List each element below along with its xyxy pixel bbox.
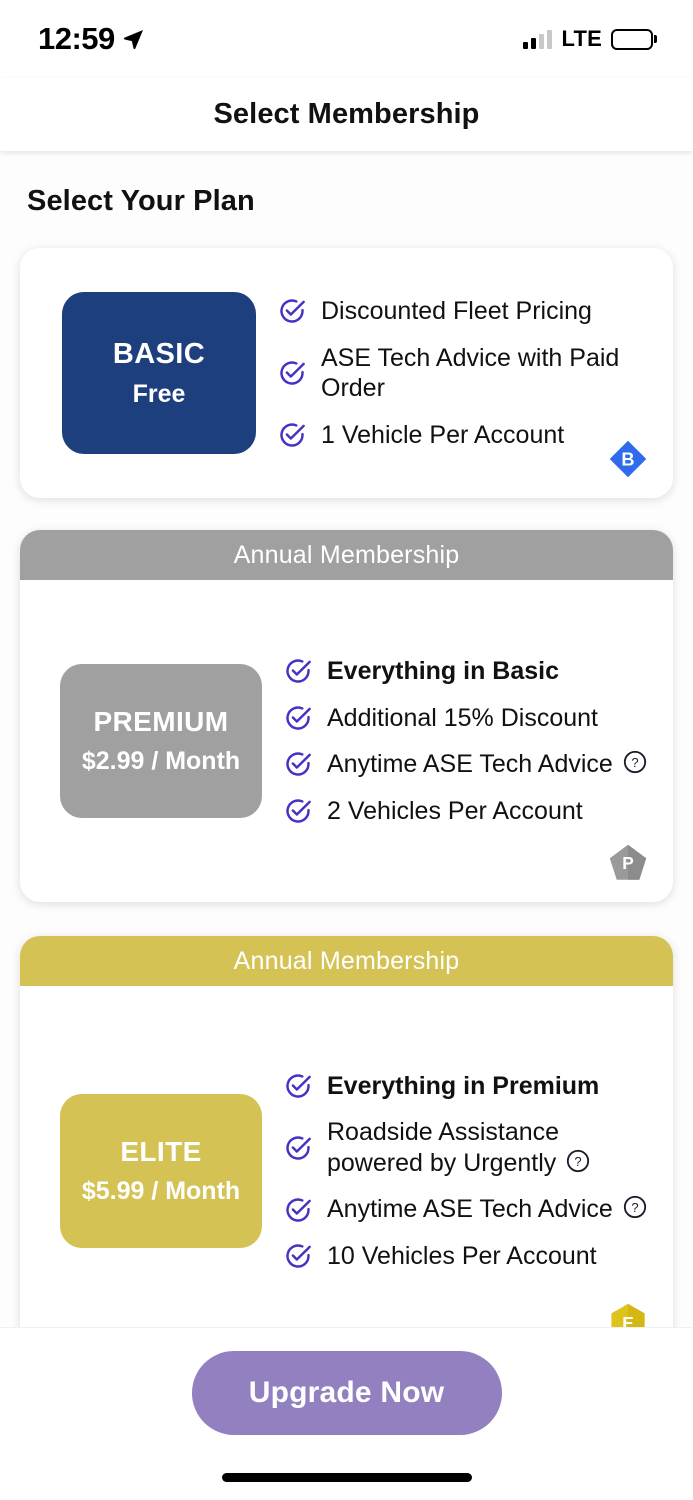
- status-bar-right: LTE: [523, 26, 653, 52]
- question-mark-circle-icon[interactable]: ?: [565, 1148, 591, 1174]
- battery-icon: [611, 29, 653, 50]
- plan-card-basic[interactable]: BASIC Free Discounted Fleet Pricing: [20, 248, 673, 498]
- pentagon-p-emblem-icon: P: [605, 840, 651, 886]
- check-circle-icon: [278, 359, 306, 387]
- feature-item: ASE Tech Advice with Paid Order: [278, 335, 651, 412]
- feature-text: Everything in Basic: [327, 656, 559, 687]
- status-bar: 12:59 LTE: [0, 0, 693, 78]
- feature-item: Anytime ASE Tech Advice ?: [284, 1186, 651, 1233]
- feature-item: Roadside Assistance powered by Urgently …: [284, 1109, 651, 1186]
- plan-card-elite[interactable]: Annual Membership ELITE $5.99 / Month Ev…: [20, 936, 673, 1327]
- feature-item: Everything in Basic: [284, 648, 651, 695]
- plan-price-premium: $2.99 / Month: [82, 747, 240, 776]
- plan-badge-premium: PREMIUM $2.99 / Month: [60, 664, 262, 818]
- upgrade-now-button[interactable]: Upgrade Now: [192, 1351, 502, 1435]
- feature-item: Discounted Fleet Pricing: [278, 288, 651, 335]
- check-circle-icon: [284, 1242, 312, 1270]
- check-circle-icon: [278, 297, 306, 325]
- check-circle-icon: [278, 421, 306, 449]
- membership-screen: 12:59 LTE Select Membership Select Your …: [0, 0, 693, 1500]
- page-title: Select Membership: [213, 98, 479, 131]
- feature-text: 1 Vehicle Per Account: [321, 420, 564, 451]
- plan-name-basic: BASIC: [113, 338, 205, 371]
- check-circle-icon: [284, 750, 312, 778]
- feature-list-basic: Discounted Fleet Pricing ASE Tech Advice…: [256, 288, 653, 458]
- feature-text: Anytime ASE Tech Advice: [327, 750, 613, 778]
- plan-price-basic: Free: [133, 380, 186, 409]
- status-bar-left: 12:59: [38, 21, 145, 57]
- plan-badge-elite: ELITE $5.99 / Month: [60, 1094, 262, 1248]
- feature-text: 10 Vehicles Per Account: [327, 1241, 597, 1272]
- check-circle-icon: [284, 1072, 312, 1100]
- home-indicator: [222, 1473, 472, 1482]
- svg-text:B: B: [621, 450, 634, 470]
- feature-text: 2 Vehicles Per Account: [327, 796, 583, 827]
- status-time: 12:59: [38, 21, 115, 57]
- svg-text:?: ?: [631, 1200, 638, 1215]
- feature-item: Anytime ASE Tech Advice ?: [284, 741, 651, 788]
- network-type-label: LTE: [561, 26, 602, 52]
- svg-text:P: P: [622, 853, 634, 873]
- location-arrow-icon: [121, 27, 145, 51]
- section-title: Select Your Plan: [0, 151, 693, 218]
- plan-card-elite-body: ELITE $5.99 / Month Everything in Premiu…: [20, 986, 673, 1327]
- check-circle-icon: [284, 797, 312, 825]
- svg-text:?: ?: [575, 1154, 582, 1169]
- plan-banner-premium: Annual Membership: [20, 530, 673, 580]
- feature-list-premium: Everything in Basic Additional 15% Disco…: [262, 648, 653, 834]
- feature-list-elite: Everything in Premium Roadside Assistanc…: [262, 1063, 653, 1280]
- feature-text: ASE Tech Advice with Paid Order: [321, 343, 651, 404]
- feature-item: Everything in Premium: [284, 1063, 651, 1110]
- feature-text: Roadside Assistance powered by Urgently: [327, 1118, 559, 1177]
- feature-text: Everything in Premium: [327, 1071, 599, 1102]
- plan-card-premium-body: PREMIUM $2.99 / Month Everything in Basi…: [20, 580, 673, 902]
- feature-item: 2 Vehicles Per Account: [284, 788, 651, 835]
- feature-item: 1 Vehicle Per Account: [278, 412, 651, 459]
- svg-text:?: ?: [631, 755, 638, 770]
- svg-text:E: E: [622, 1313, 634, 1327]
- plans-scroll-container[interactable]: Select Your Plan BASIC Free Discounted F…: [0, 151, 693, 1327]
- feature-text: Additional 15% Discount: [327, 703, 598, 734]
- feature-text: Discounted Fleet Pricing: [321, 296, 592, 327]
- question-mark-circle-icon[interactable]: ?: [622, 1194, 648, 1220]
- plan-name-elite: ELITE: [120, 1136, 201, 1168]
- plan-badge-basic: BASIC Free: [62, 292, 256, 454]
- feature-item: Additional 15% Discount: [284, 695, 651, 742]
- check-circle-icon: [284, 1134, 312, 1162]
- diamond-b-emblem-icon: B: [605, 436, 651, 482]
- feature-text: Anytime ASE Tech Advice: [327, 1195, 613, 1223]
- hexagon-e-emblem-icon: E: [605, 1300, 651, 1327]
- plan-card-premium[interactable]: Annual Membership PREMIUM $2.99 / Month …: [20, 530, 673, 902]
- check-circle-icon: [284, 657, 312, 685]
- plan-name-premium: PREMIUM: [93, 706, 228, 738]
- question-mark-circle-icon[interactable]: ?: [622, 749, 648, 775]
- check-circle-icon: [284, 1196, 312, 1224]
- feature-item: 10 Vehicles Per Account: [284, 1233, 651, 1280]
- plan-card-basic-body: BASIC Free Discounted Fleet Pricing: [20, 248, 673, 498]
- cellular-signal-icon: [523, 30, 552, 49]
- plan-banner-elite: Annual Membership: [20, 936, 673, 986]
- check-circle-icon: [284, 704, 312, 732]
- nav-header: Select Membership: [0, 78, 693, 151]
- plan-price-elite: $5.99 / Month: [82, 1177, 240, 1206]
